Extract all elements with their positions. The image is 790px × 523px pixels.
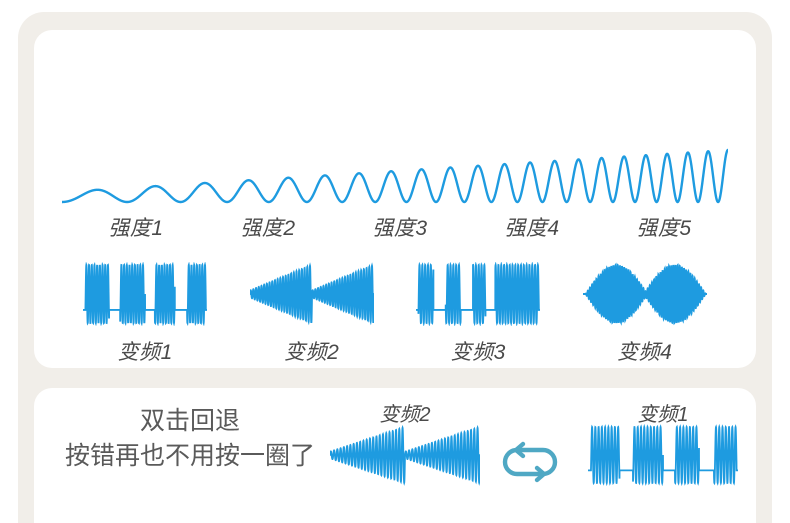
intensity-label-4: 强度4	[466, 212, 598, 242]
intensity-label-2: 强度2	[202, 212, 334, 242]
footer-mode-a-waveform	[330, 424, 480, 486]
intensity-label-row: 强度1 强度2 强度3 强度4 强度5	[70, 212, 730, 242]
footer-mode-b-label: 变频1	[588, 398, 738, 424]
footer-mode-a: 变频2	[330, 398, 480, 486]
modes-card: 强度1 强度2 强度3 强度4 强度5 变频1 变频2 变频3 变频4	[34, 30, 756, 368]
loop-repeat-icon[interactable]	[497, 441, 563, 483]
footer-mode-a-label: 变频2	[330, 398, 480, 424]
frequency-label-2: 变频2	[229, 336, 396, 366]
footer-headline: 双击回退	[40, 404, 340, 439]
frequency-label-1: 变频1	[62, 336, 229, 366]
frequency-waveform-1	[62, 258, 229, 330]
frequency-label-row: 变频1 变频2 变频3 变频4	[62, 336, 728, 366]
frequency-waveform-3	[395, 258, 562, 330]
frequency-label-3: 变频3	[395, 336, 562, 366]
footer-message: 双击回退 按错再也不用按一圈了	[40, 404, 340, 474]
footer-mode-b: 变频1	[588, 398, 738, 486]
intensity-waveform	[62, 68, 728, 208]
intensity-label-3: 强度3	[334, 212, 466, 242]
intensity-label-5: 强度5	[598, 212, 730, 242]
footer-subline: 按错再也不用按一圈了	[40, 439, 340, 474]
intensity-label-1: 强度1	[70, 212, 202, 242]
footer-card: 双击回退 按错再也不用按一圈了 变频2 变频1	[34, 388, 756, 523]
frequency-waveform-row	[62, 258, 728, 330]
frequency-label-4: 变频4	[562, 336, 729, 366]
frequency-waveform-4	[562, 258, 729, 330]
footer-mode-b-waveform	[588, 424, 738, 486]
frequency-waveform-2	[229, 258, 396, 330]
screen: 强度1 强度2 强度3 强度4 强度5 变频1 变频2 变频3 变频4	[0, 0, 790, 523]
